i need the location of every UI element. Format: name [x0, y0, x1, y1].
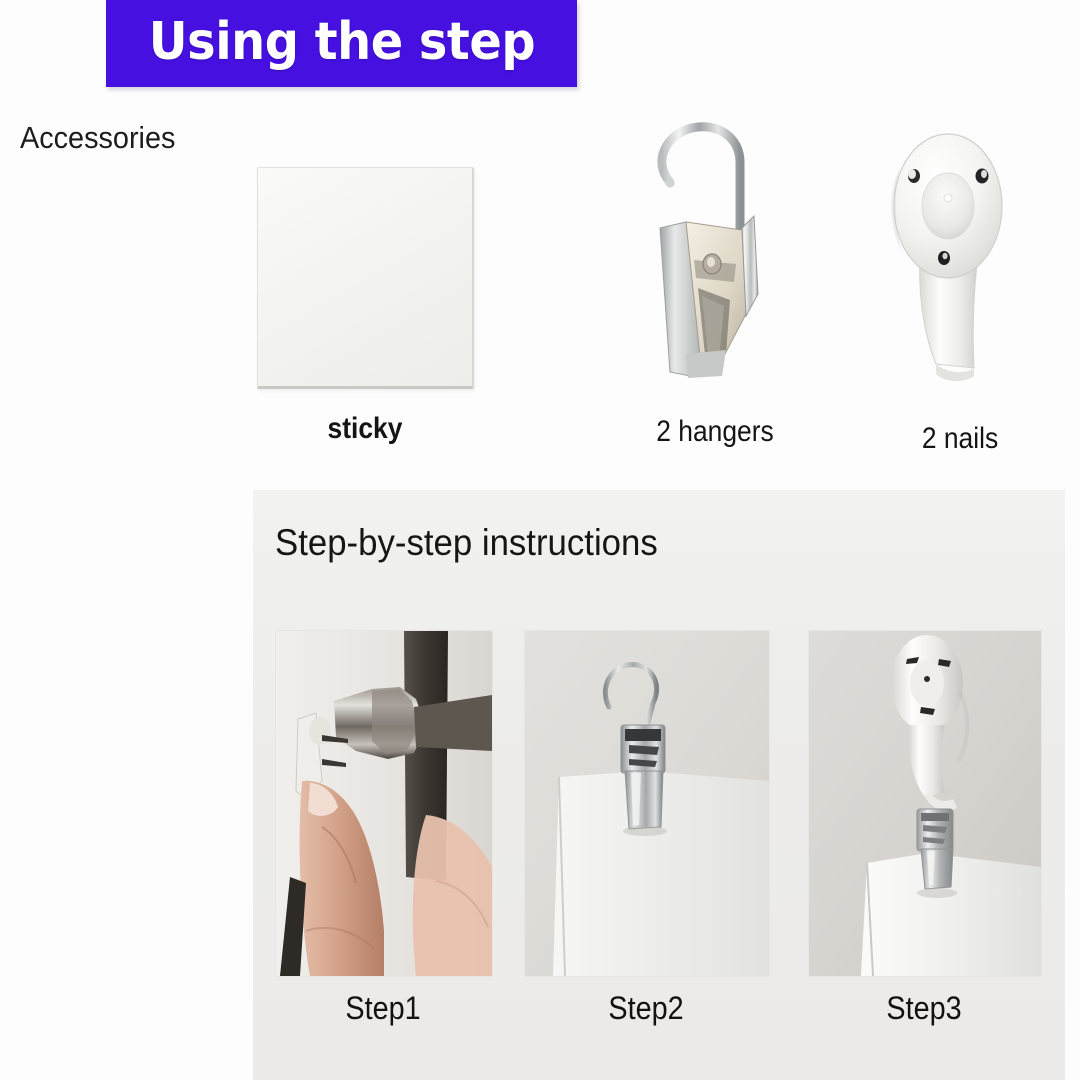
- adhesive-pad-icon: [257, 167, 474, 389]
- title-banner: Using the step: [106, 0, 577, 87]
- page-title: Using the step: [148, 16, 534, 68]
- clip-gripping-sheet-photo: [524, 630, 770, 977]
- instructions-title: Step-by-step instructions: [275, 522, 658, 564]
- hammer-nail-into-wall-photo: [275, 630, 493, 977]
- white-wall-hook-icon: [878, 128, 1048, 388]
- step-caption-3: Step3: [820, 990, 1029, 1027]
- step-caption-2: Step2: [536, 990, 756, 1027]
- accessory-caption-hangers: 2 hangers: [614, 415, 816, 449]
- step1-graphic: [276, 631, 492, 976]
- step3-graphic: [809, 631, 1041, 976]
- step2-graphic: [525, 631, 769, 976]
- step-caption-1: Step1: [286, 990, 480, 1027]
- instructions-panel: Step-by-step instructions: [253, 490, 1065, 1080]
- wall-hook-graphic: [878, 128, 1048, 388]
- hanger-clip-graphic: [630, 104, 800, 394]
- accessories-section-label: Accessories: [20, 120, 175, 156]
- hook-holding-clip-on-wall-photo: [808, 630, 1042, 977]
- accessory-caption-sticky: sticky: [264, 412, 466, 446]
- metal-hanger-clip-icon: [630, 104, 800, 394]
- accessory-caption-nails: 2 nails: [868, 422, 1053, 456]
